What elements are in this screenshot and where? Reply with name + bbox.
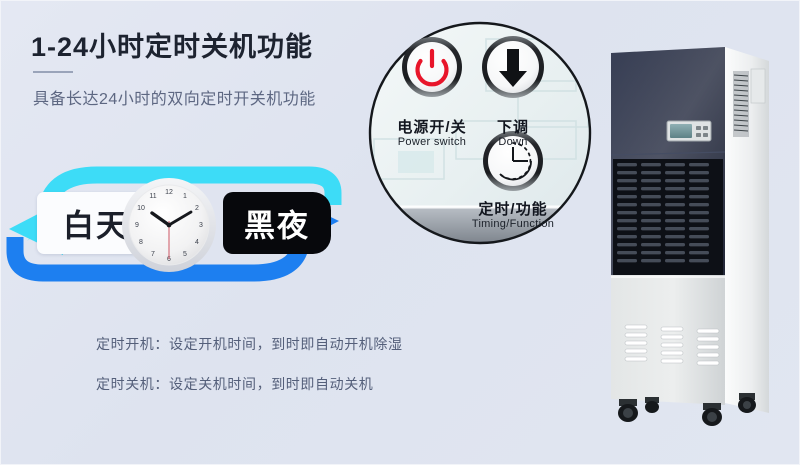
svg-text:9: 9	[135, 222, 139, 229]
bullet-timer-off: 定时关机：设定关机时间，到时即自动关机	[96, 374, 373, 394]
down-button-label: 下调 Down	[497, 119, 529, 149]
day-label: 白天	[63, 201, 129, 246]
lcd-display-icon[interactable]	[667, 121, 711, 141]
svg-text:1: 1	[183, 193, 187, 200]
control-panel-closeup: 电源开/关 Power switch 下调 Down 定时/功能 Timing/…	[368, 21, 592, 245]
svg-text:7: 7	[151, 251, 155, 258]
bullet-timer-on: 定时开机：设定开机时间，到时即自动开机除湿	[96, 334, 403, 354]
night-label: 黑夜	[244, 201, 310, 246]
svg-text:11: 11	[149, 193, 156, 200]
down-button[interactable]	[482, 36, 544, 98]
power-button-label: 电源开/关 Power switch	[397, 119, 466, 149]
page-subtitle: 具备长达24小时的双向定时开关机功能	[33, 85, 316, 109]
svg-text:10: 10	[137, 205, 145, 212]
svg-text:5: 5	[183, 251, 187, 258]
power-button[interactable]	[402, 37, 462, 97]
clock-center-pin	[167, 223, 172, 228]
night-panel: 黑夜	[223, 192, 331, 254]
svg-text:4: 4	[195, 239, 199, 246]
product-image	[597, 25, 797, 445]
timing-button-label: 定时/功能 Timing/Function	[472, 201, 554, 231]
front-louver-grille	[613, 159, 723, 275]
svg-text:12: 12	[165, 189, 173, 196]
svg-text:3: 3	[199, 222, 203, 229]
page-title: 1-24小时定时关机功能	[31, 25, 313, 64]
svg-text:8: 8	[139, 239, 143, 246]
title-divider	[33, 71, 73, 73]
product-feature-poster: 1-24小时定时关机功能 具备长达24小时的双向定时开关机功能 白天 黑夜	[0, 0, 800, 465]
analog-clock: 12 1 2 3 4 5 6 7 8 9 10 11	[121, 177, 217, 273]
svg-text:2: 2	[195, 205, 199, 212]
